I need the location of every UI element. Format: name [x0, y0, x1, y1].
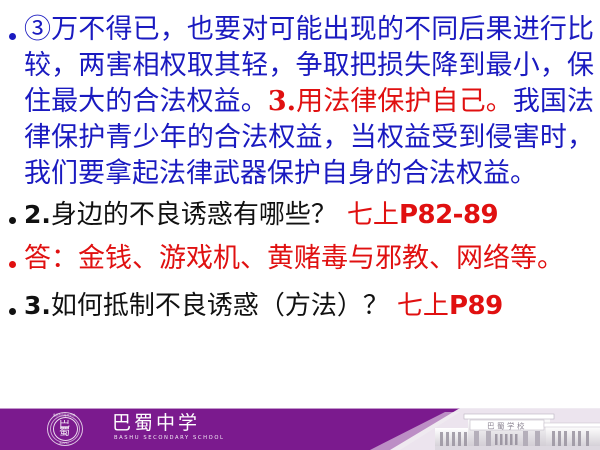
- bullet-2-reference-page: P82-89: [399, 200, 498, 230]
- bullet-marker-3: [0, 241, 24, 271]
- bullet-text-3: 答：金钱、游戏机、黄赌毒与邪教、网络等。: [24, 241, 600, 277]
- seal-top-text: 重庆市巴蜀中学校: [51, 413, 77, 417]
- seal-glyph: 巴蜀: [56, 420, 72, 436]
- bullet-2-number: 2.: [24, 200, 51, 229]
- bullet-item-1: ③万不得已，也要对可能出现的不同后果进行比较，两害相权取其轻，争取把损失降到最小…: [0, 12, 600, 192]
- seal-bottom-text: BASHU: [51, 442, 77, 445]
- bullet-text-1: ③万不得已，也要对可能出现的不同后果进行比较，两害相权取其轻，争取把损失降到最小…: [24, 12, 600, 192]
- bullet-1-seg-red-title: 用法律保护自己。: [296, 86, 513, 117]
- bullet-1-seg-red-number: 3.: [268, 86, 296, 117]
- bullet-4-reference-book: 七上: [397, 291, 449, 321]
- school-building-watermark: 巴蜀学校: [340, 408, 600, 450]
- bullet-text-2: 2.身边的不良诱惑有哪些？七上P82-89: [24, 198, 600, 232]
- bullet-4-reference-page: P89: [449, 291, 503, 321]
- bullet-item-3: 答：金钱、游戏机、黄赌毒与邪教、网络等。: [0, 241, 600, 277]
- school-seal-logo: 重庆市巴蜀中学校 巴蜀 BASHU: [47, 412, 83, 446]
- bullet-2-question: 身边的不良诱惑有哪些？: [51, 200, 337, 230]
- bullet-4-reference: 七上P89: [397, 291, 503, 321]
- school-name-english: BASHU SECONDARY SCHOOL: [112, 434, 252, 442]
- school-name-chinese: 巴蜀中学: [112, 413, 252, 434]
- building-inscription: 巴蜀学校: [487, 421, 527, 431]
- bullet-4-question: 如何抵制不良诱惑（方法）？: [51, 291, 389, 321]
- bullet-4-number: 3.: [24, 291, 51, 320]
- bullet-marker-4: [0, 289, 24, 318]
- slide-content: ③万不得已，也要对可能出现的不同后果进行比较，两害相权取其轻，争取把损失降到最小…: [0, 12, 600, 323]
- bullet-marker-1: [0, 12, 24, 43]
- bullet-2-reference: 七上P82-89: [347, 200, 498, 230]
- bullet-2-reference-book: 七上: [347, 200, 399, 230]
- school-footer-banner: 巴蜀学校: [0, 408, 600, 450]
- slide-canvas: ③万不得已，也要对可能出现的不同后果进行比较，两害相权取其轻，争取把损失降到最小…: [0, 0, 600, 450]
- school-name-block: 巴蜀中学 BASHU SECONDARY SCHOOL: [112, 413, 252, 442]
- bullet-marker-2: [0, 198, 24, 227]
- bullet-item-2: 2.身边的不良诱惑有哪些？七上P82-89: [0, 198, 600, 232]
- bullet-text-4: 3.如何抵制不良诱惑（方法）？七上P89: [24, 289, 600, 323]
- bullet-item-4: 3.如何抵制不良诱惑（方法）？七上P89: [0, 289, 600, 323]
